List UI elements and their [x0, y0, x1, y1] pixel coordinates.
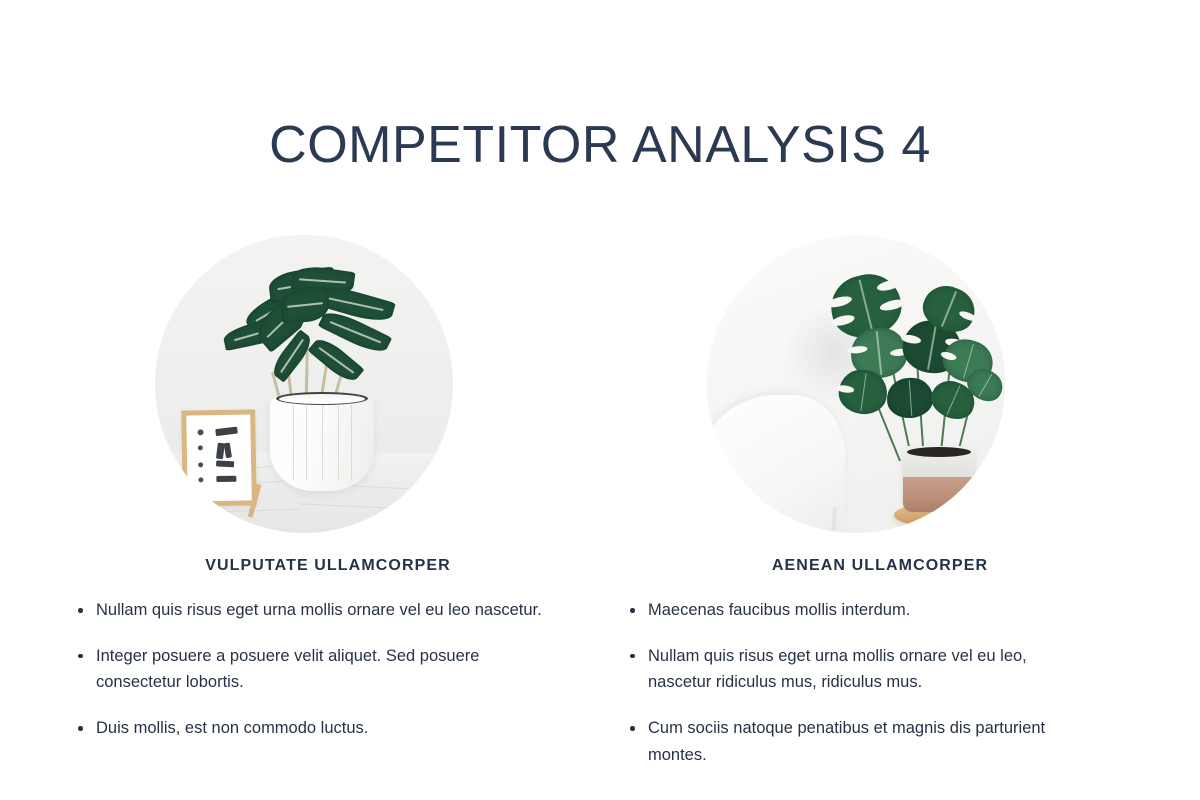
list-item: Maecenas faucibus mollis interdum. [622, 597, 1092, 624]
list-item: Duis mollis, est non commodo luctus. [70, 715, 550, 742]
column-right-bullets: Maecenas faucibus mollis interdum. Nulla… [622, 597, 1092, 769]
list-item: Cum sociis natoque penatibus et magnis d… [622, 715, 1092, 768]
monstera-plant-photo [707, 235, 1005, 533]
column-left-heading: VULPUTATE ULLAMCORPER [48, 557, 608, 575]
alocasia-plant-photo-wrap [155, 235, 453, 533]
content-columns: VULPUTATE ULLAMCORPER Nullam quis risus … [0, 235, 1200, 795]
column-right: AENEAN ULLAMCORPER Maecenas faucibus mol… [600, 235, 1160, 788]
column-left: VULPUTATE ULLAMCORPER Nullam quis risus … [48, 235, 608, 761]
page-title: COMPETITOR ANALYSIS 4 [0, 117, 1200, 174]
two-tone-pot [903, 446, 975, 512]
monstera-plant [799, 271, 999, 461]
white-ceramic-pot [270, 395, 374, 491]
slide: COMPETITOR ANALYSIS 4 [0, 0, 1200, 800]
column-right-heading: AENEAN ULLAMCORPER [600, 557, 1160, 575]
list-item: Nullam quis risus eget urna mollis ornar… [70, 597, 550, 624]
alocasia-plant-photo [155, 235, 453, 533]
monstera-plant-photo-wrap [707, 235, 1005, 533]
chair-arm [707, 470, 732, 506]
column-left-bullets: Nullam quis risus eget urna mollis ornar… [70, 597, 550, 742]
list-item: Nullam quis risus eget urna mollis ornar… [622, 643, 1092, 696]
list-item: Integer posuere a posuere velit aliquet.… [70, 643, 550, 696]
pot-bottom-section [903, 477, 975, 513]
